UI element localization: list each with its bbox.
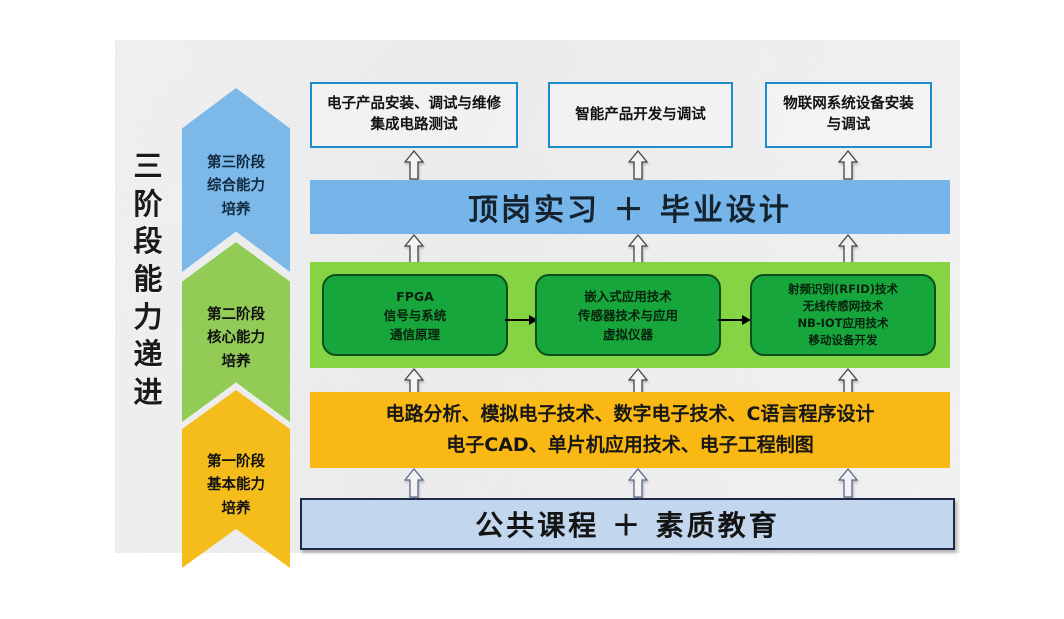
up-arrow-icon	[404, 468, 424, 498]
role-card-iot-system[interactable]: 物联网系统设备安装 与调试	[765, 82, 932, 148]
stage-label-line: 核心能力	[207, 327, 265, 350]
stage-label-line: 培养	[222, 498, 251, 521]
right-arrow-icon	[505, 311, 539, 323]
stage-label-line: 综合能力	[207, 175, 265, 198]
basic-course-line: 电子CAD、单片机应用技术、电子工程制图	[446, 430, 813, 461]
diagram-vertical-title: 三 阶 段 能 力 递 进	[120, 148, 176, 412]
public-courses-bar[interactable]: 公共课程 ＋ 素质教育	[300, 498, 955, 550]
vertical-title-char: 段	[133, 223, 162, 261]
core-course-box-iot[interactable]: 射频识别(RFID)技术 无线传感网技术 NB-IOT应用技术 移动设备开发	[750, 274, 936, 356]
course-line: 嵌入式应用技术	[584, 287, 672, 306]
course-line: NB-IOT应用技术	[797, 315, 888, 332]
vertical-title-char: 进	[133, 374, 162, 412]
role-card-line: 物联网系统设备安装	[783, 94, 914, 115]
up-arrow-icon	[838, 150, 858, 180]
course-line: 射频识别(RFID)技术	[788, 281, 898, 298]
vertical-title-char: 递	[133, 336, 162, 374]
stage-label-line: 培养	[222, 351, 251, 374]
course-line: 信号与系统	[384, 306, 447, 325]
role-card-line: 智能产品开发与调试	[575, 105, 706, 126]
vertical-title-char: 能	[133, 261, 162, 299]
course-line: 移动设备开发	[809, 332, 878, 349]
role-card-line: 与调试	[783, 115, 914, 136]
up-arrow-icon	[838, 234, 858, 264]
role-card-electronic-product[interactable]: 电子产品安装、调试与维修 集成电路测试	[310, 82, 518, 148]
course-line: 通信原理	[390, 325, 440, 344]
role-card-line: 电子产品安装、调试与维修	[327, 94, 501, 115]
core-course-box-embedded[interactable]: 嵌入式应用技术 传感器技术与应用 虚拟仪器	[535, 274, 721, 356]
stage-label-line: 培养	[222, 199, 251, 222]
vertical-title-char: 三	[133, 148, 162, 186]
course-line: 传感器技术与应用	[578, 306, 678, 325]
stage-label-line: 第一阶段	[207, 451, 265, 474]
stage-label-line: 第三阶段	[207, 152, 265, 175]
internship-graduation-bar[interactable]: 顶岗实习 ＋ 毕业设计	[310, 180, 950, 234]
up-arrow-icon	[628, 468, 648, 498]
basic-course-line: 电路分析、模拟电子技术、数字电子技术、C语言程序设计	[386, 399, 875, 430]
role-card-line: 集成电路测试	[327, 115, 501, 136]
course-line: FPGA	[396, 287, 434, 306]
role-card-smart-product[interactable]: 智能产品开发与调试	[548, 82, 733, 148]
up-arrow-icon	[404, 234, 424, 264]
stage-label-line: 基本能力	[207, 474, 265, 497]
vertical-title-char: 阶	[133, 186, 162, 224]
right-arrow-icon	[718, 311, 752, 323]
basic-courses-bar[interactable]: 电路分析、模拟电子技术、数字电子技术、C语言程序设计 电子CAD、单片机应用技术…	[310, 392, 950, 468]
stage-label-line: 第二阶段	[207, 304, 265, 327]
course-line: 无线传感网技术	[803, 298, 884, 315]
vertical-title-char: 力	[133, 299, 162, 337]
up-arrow-icon	[628, 234, 648, 264]
course-line: 虚拟仪器	[603, 325, 653, 344]
up-arrow-icon	[628, 150, 648, 180]
up-arrow-icon	[838, 468, 858, 498]
core-course-box-fpga[interactable]: FPGA 信号与系统 通信原理	[322, 274, 508, 356]
up-arrow-icon	[404, 150, 424, 180]
